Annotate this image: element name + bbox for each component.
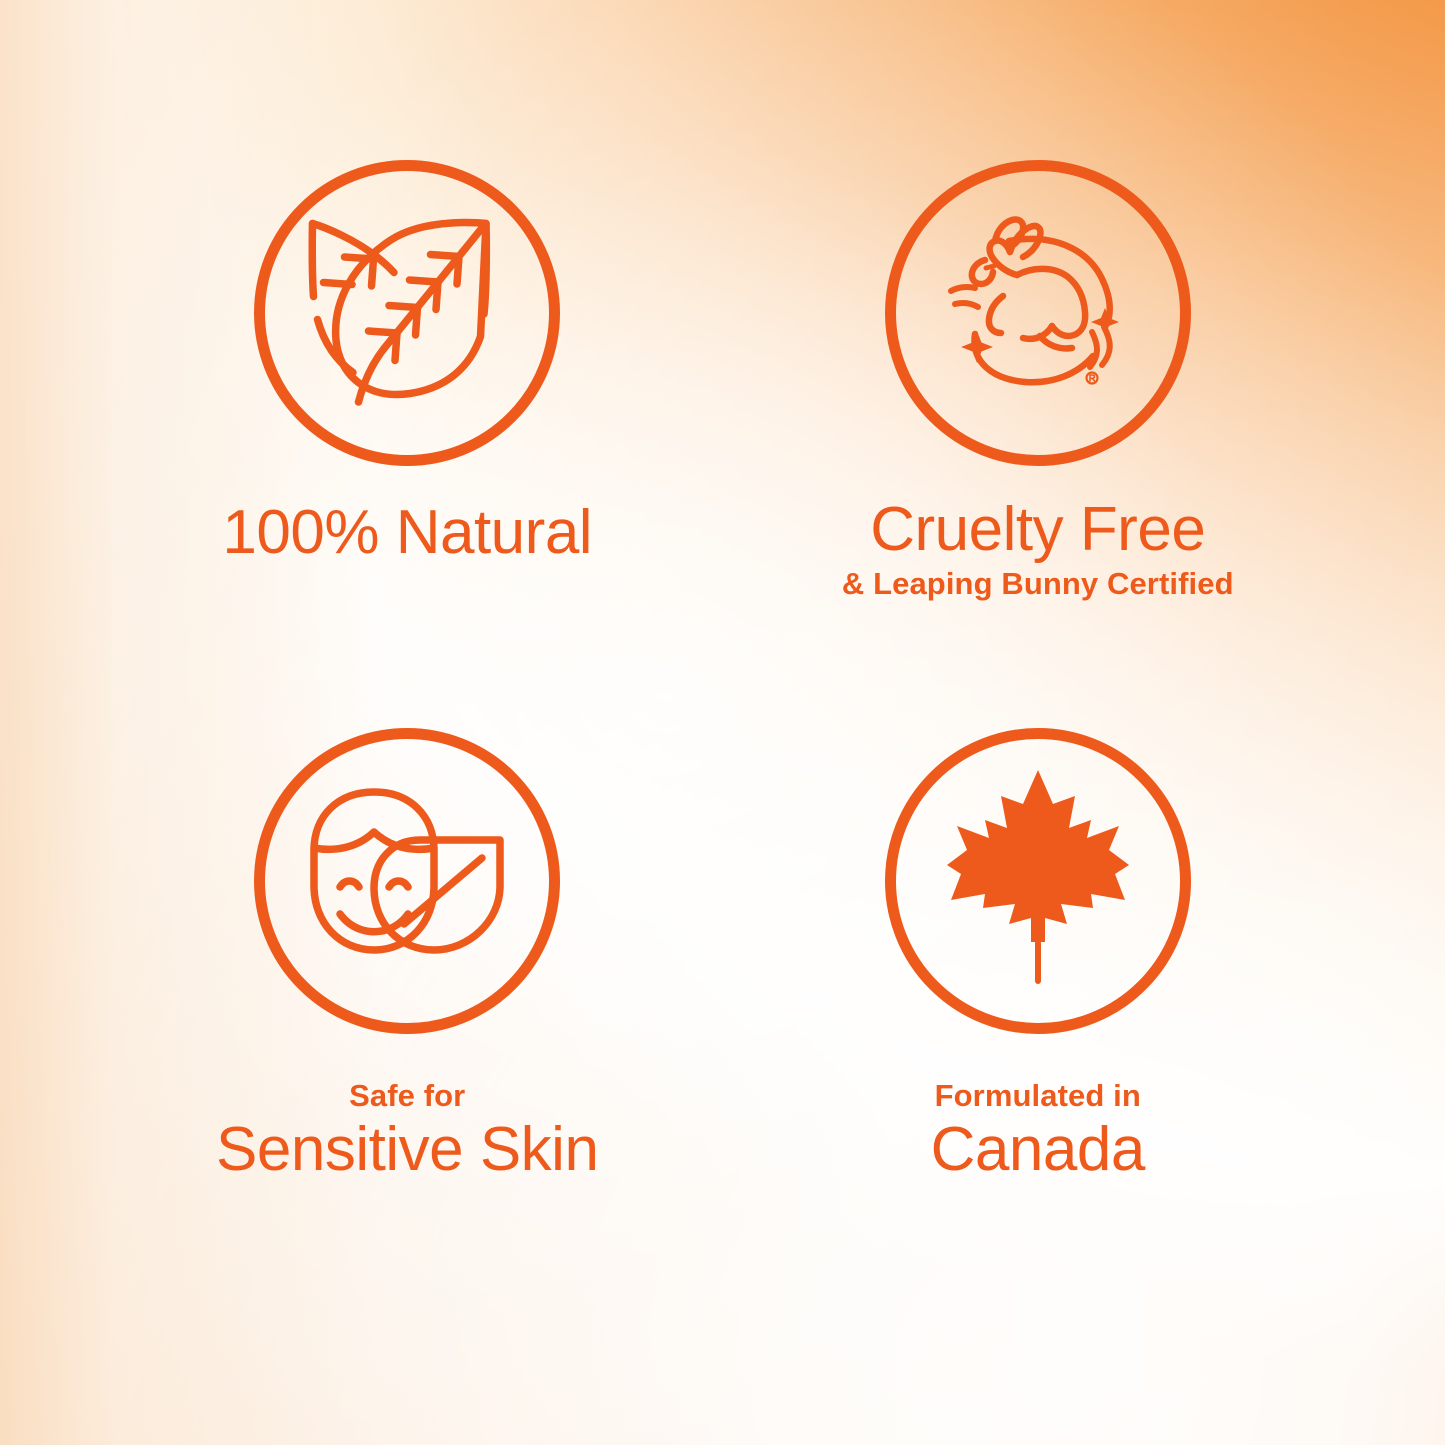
badge-caption: Cruelty Free & Leaping Bunny Certified [842, 499, 1234, 599]
badge-formulated-in-canada: Formulated in Canada [723, 728, 1354, 1296]
badge-sub-label: & Leaping Bunny Certified [842, 568, 1234, 599]
badge-sub-label: Formulated in [935, 1080, 1141, 1111]
badge-main-label: Cruelty Free [870, 499, 1205, 561]
leaf-pair-icon [254, 160, 560, 466]
face-with-leaf-icon [254, 728, 560, 1034]
badge-100-percent-natural: 100% Natural [92, 160, 723, 728]
badge-main-label: Sensitive Skin [216, 1119, 598, 1181]
leaping-bunny-icon [885, 160, 1191, 466]
badge-caption: Safe for Sensitive Skin [216, 1080, 598, 1181]
badge-main-label: 100% Natural [222, 502, 592, 564]
badge-sensitive-skin: Safe for Sensitive Skin [92, 728, 723, 1296]
badge-board: 100% Natural [0, 0, 1445, 1445]
badge-caption: Formulated in Canada [931, 1080, 1145, 1181]
badge-main-label: Canada [931, 1119, 1145, 1181]
maple-leaf-icon [885, 728, 1191, 1034]
badge-caption: 100% Natural [222, 502, 592, 564]
badge-sub-label: Safe for [349, 1080, 465, 1111]
badge-grid: 100% Natural [0, 0, 1445, 1445]
badge-cruelty-free: Cruelty Free & Leaping Bunny Certified [723, 160, 1354, 728]
